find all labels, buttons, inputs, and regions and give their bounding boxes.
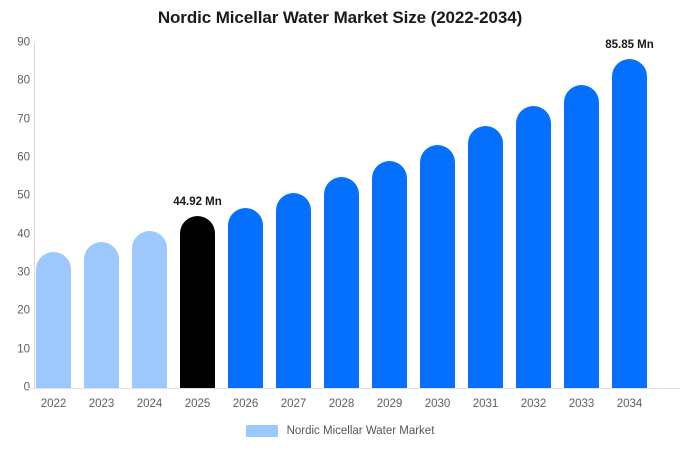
value-label-2034: 85.85 Mn xyxy=(605,39,654,51)
bar-fill xyxy=(516,106,551,388)
bar-fill xyxy=(276,193,311,388)
bar-2027[interactable] xyxy=(276,193,311,388)
bar-2032[interactable] xyxy=(516,106,551,388)
bar-fill xyxy=(180,216,215,388)
y-axis-ticks: 0102030405060708090 xyxy=(0,0,30,450)
bar-2034[interactable] xyxy=(612,59,647,388)
x-axis-line xyxy=(28,388,680,389)
y-axis-tick-label: 50 xyxy=(4,191,30,203)
bar-fill xyxy=(324,177,359,388)
x-axis-tick-label: 2025 xyxy=(174,398,222,410)
bar-2033[interactable] xyxy=(564,85,599,388)
y-axis-tick-label: 10 xyxy=(4,344,30,356)
bar-fill xyxy=(36,252,71,388)
y-axis-tick-label: 40 xyxy=(4,229,30,241)
bar-chart: Nordic Micellar Water Market Size (2022-… xyxy=(0,0,680,450)
chart-legend: Nordic Micellar Water Market xyxy=(0,425,680,437)
x-axis-tick-label: 2029 xyxy=(366,398,414,410)
bar-2028[interactable] xyxy=(324,177,359,388)
bar-2022[interactable] xyxy=(36,252,71,388)
bar-fill xyxy=(468,126,503,388)
x-axis-tick-label: 2033 xyxy=(558,398,606,410)
x-axis-tick-label: 2034 xyxy=(606,398,654,410)
value-label-2025: 44.92 Mn xyxy=(173,196,222,208)
bar-fill xyxy=(372,161,407,388)
x-axis-tick-label: 2024 xyxy=(126,398,174,410)
bar-2026[interactable] xyxy=(228,208,263,388)
y-axis-tick-label: 60 xyxy=(4,152,30,164)
bar-2029[interactable] xyxy=(372,161,407,388)
y-axis-tick-label: 80 xyxy=(4,76,30,88)
x-axis-tick-label: 2030 xyxy=(414,398,462,410)
y-axis-tick-label: 20 xyxy=(4,306,30,318)
bar-2030[interactable] xyxy=(420,145,455,388)
bar-fill xyxy=(420,145,455,388)
x-axis-tick-label: 2022 xyxy=(30,398,78,410)
y-axis-tick-label: 0 xyxy=(4,382,30,394)
x-axis-tick-label: 2026 xyxy=(222,398,270,410)
x-axis-tick-label: 2023 xyxy=(78,398,126,410)
x-axis-tick-label: 2027 xyxy=(270,398,318,410)
y-axis-tick-label: 90 xyxy=(4,37,30,49)
x-axis-tick-label: 2032 xyxy=(510,398,558,410)
plot-area xyxy=(36,43,680,388)
bar-fill xyxy=(228,208,263,388)
x-axis-tick-label: 2028 xyxy=(318,398,366,410)
bar-2023[interactable] xyxy=(84,242,119,388)
bar-fill xyxy=(132,231,167,388)
bar-2031[interactable] xyxy=(468,126,503,388)
bar-fill xyxy=(84,242,119,388)
bar-2024[interactable] xyxy=(132,231,167,388)
y-axis-tick-label: 70 xyxy=(4,114,30,126)
x-axis-tick-label: 2031 xyxy=(462,398,510,410)
bar-2025[interactable] xyxy=(180,216,215,388)
chart-title: Nordic Micellar Water Market Size (2022-… xyxy=(0,8,680,28)
bar-fill xyxy=(612,59,647,388)
bar-fill xyxy=(564,85,599,388)
y-axis-tick-label: 30 xyxy=(4,267,30,279)
legend-label: Nordic Micellar Water Market xyxy=(287,425,435,437)
y-axis-line xyxy=(34,43,35,389)
legend-swatch xyxy=(246,425,278,437)
